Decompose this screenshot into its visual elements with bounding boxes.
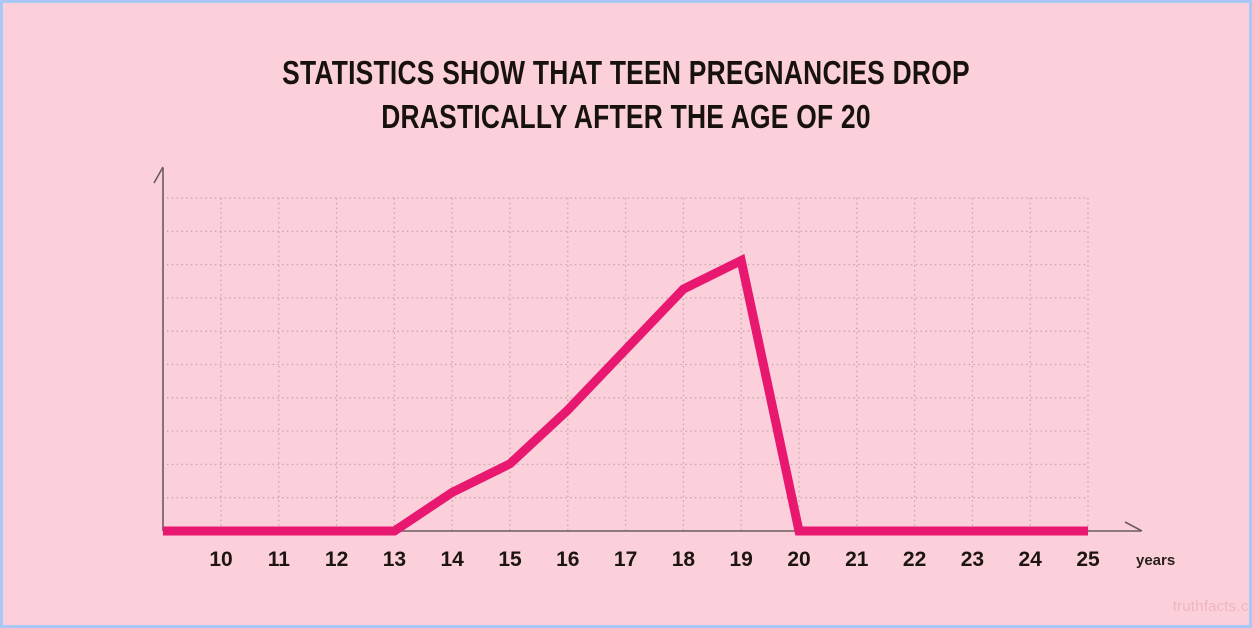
x-axis-tick-label: 22 xyxy=(891,549,939,570)
x-axis-tick-label: 24 xyxy=(1006,549,1054,570)
x-axis-tick-label: 15 xyxy=(486,549,534,570)
x-axis-tick-label: 17 xyxy=(602,549,650,570)
x-axis-tick-label: 14 xyxy=(428,549,476,570)
x-axis-tick-label: 18 xyxy=(659,549,707,570)
x-axis-tick-label: 10 xyxy=(197,549,245,570)
x-axis-tick-label: 12 xyxy=(313,549,361,570)
line-chart-plot xyxy=(3,3,1252,628)
x-axis-arrow-icon xyxy=(1125,522,1142,531)
grid-vertical-lines xyxy=(221,198,1088,531)
x-axis-tick-label: 19 xyxy=(717,549,765,570)
watermark: truthfacts.co xyxy=(1173,598,1252,615)
x-axis-tick-label: 11 xyxy=(255,549,303,570)
x-axis-unit-label: years xyxy=(1136,553,1175,568)
x-axis-tick-label: 16 xyxy=(544,549,592,570)
x-axis-tick-label: 25 xyxy=(1064,549,1112,570)
x-axis-tick-label: 23 xyxy=(948,549,996,570)
x-axis-tick-label: 13 xyxy=(370,549,418,570)
y-axis-arrow-icon xyxy=(154,167,163,183)
x-axis-tick-label: 21 xyxy=(833,549,881,570)
chart-axes xyxy=(154,167,1142,531)
chart-page: STATISTICS SHOW THAT TEEN PREGNANCIES DR… xyxy=(0,0,1252,628)
x-axis-tick-label: 20 xyxy=(775,549,823,570)
